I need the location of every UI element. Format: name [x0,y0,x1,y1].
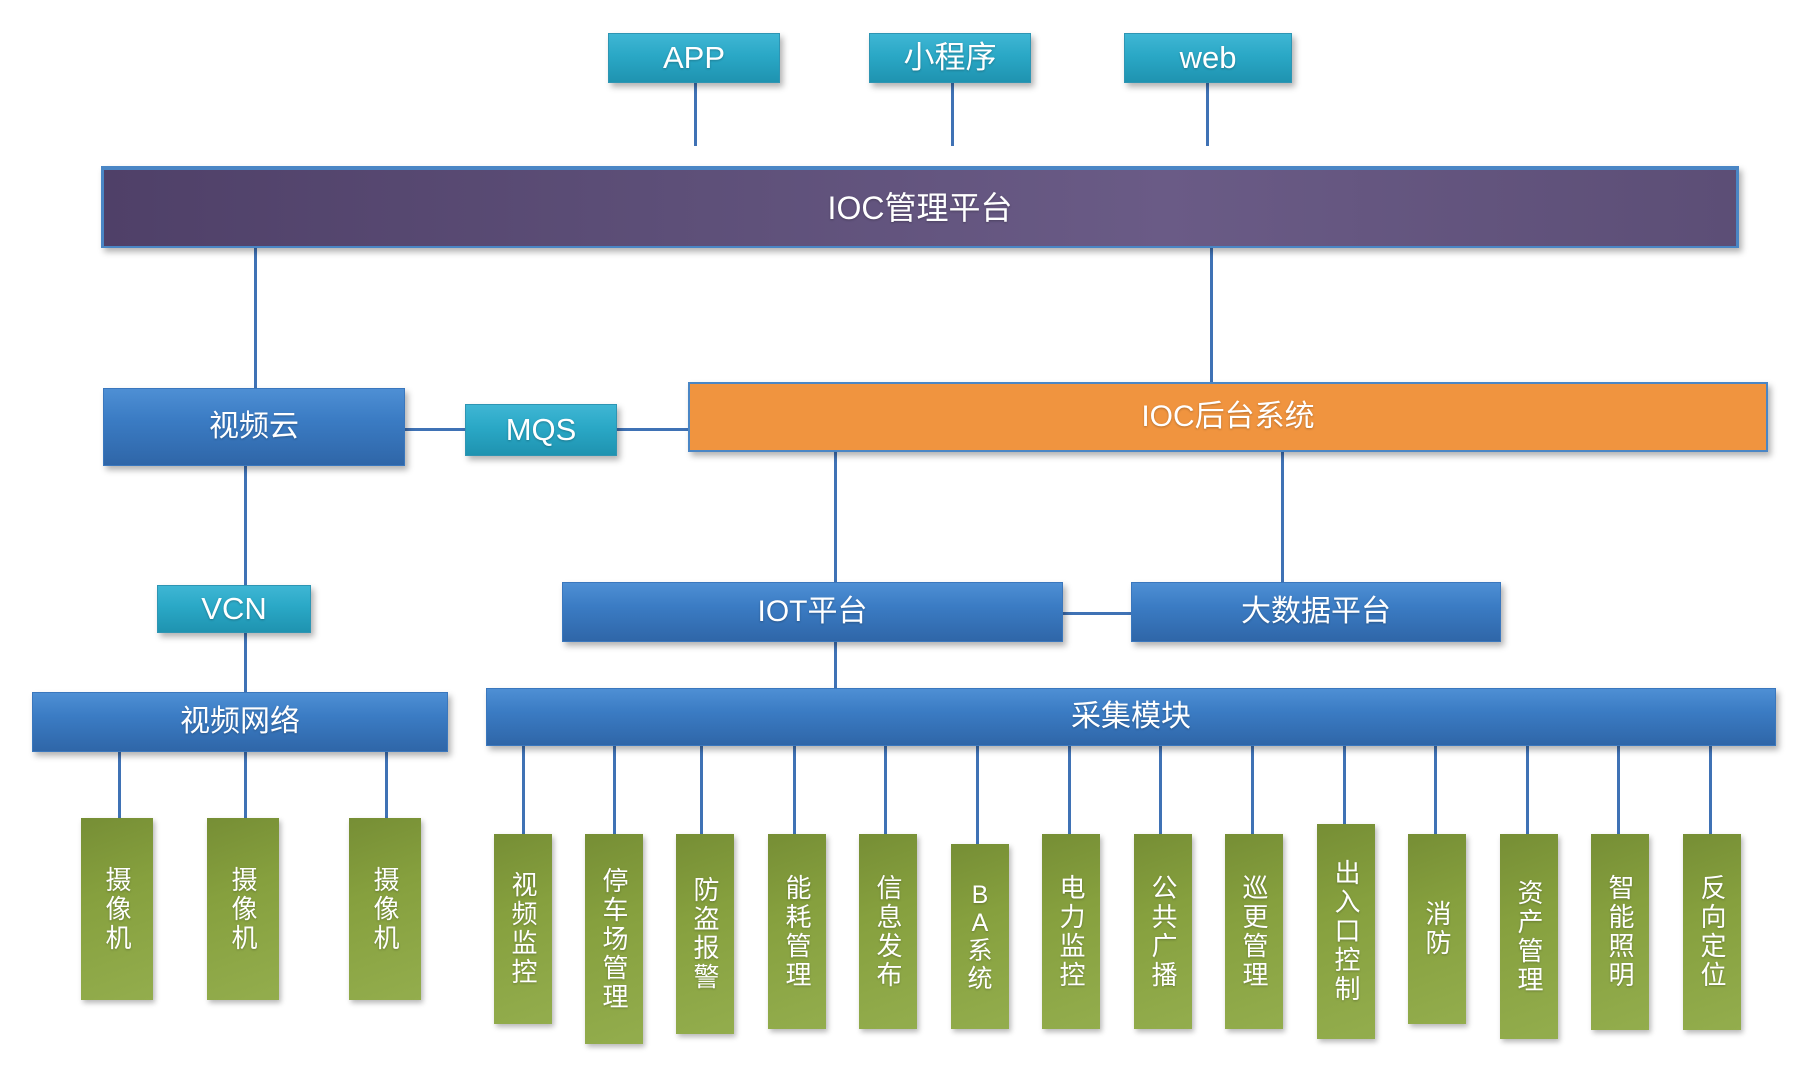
connector-video-cloud-to-mqs [404,428,466,431]
connector-ioc-backend-to-bigdata [1281,452,1284,582]
mqs-label: MQS [506,413,577,446]
connector-collection-to-sub-11 [1434,738,1437,836]
connector-collection-to-sub-10 [1343,738,1346,826]
architecture-diagram-canvas: APP 小程序 web IOC管理平台 视频云 MQS IOC后台系统 VCN … [0,0,1805,1084]
connector-video-network-to-camera-1 [118,752,121,820]
connector-collection-to-sub-5 [884,738,887,836]
connector-collection-to-sub-9 [1251,738,1254,836]
connector-collection-to-sub-13 [1617,738,1620,836]
ioc-backend-label: IOC后台系统 [1141,401,1314,433]
connector-miniprogram-to-platform [951,78,954,146]
connector-vcn-to-video-network [244,626,247,700]
collection-module-label: 采集模块 [1071,701,1191,733]
subsystem-box-4-label: 能耗管理 [784,874,810,990]
subsystem-box-5-label: 信息发布 [875,874,901,990]
subsystem-box-10-label: 出入口控制 [1333,859,1359,1004]
subsystem-box-11[interactable]: 消防 [1408,834,1466,1024]
client-box-app-label: APP [663,41,725,74]
ioc-management-platform-bar[interactable]: IOC管理平台 [101,166,1739,248]
subsystem-box-12[interactable]: 资产管理 [1500,834,1558,1039]
client-box-web[interactable]: web [1124,33,1292,83]
connector-collection-to-sub-12 [1526,738,1529,836]
subsystem-box-13-label: 智能照明 [1607,874,1633,990]
connector-iot-to-collection [834,642,837,692]
client-box-web-label: web [1180,41,1237,74]
connector-collection-to-sub-3 [700,738,703,836]
subsystem-box-14-label: 反向定位 [1699,874,1725,990]
subsystem-box-7-label: 电力监控 [1058,874,1084,990]
subsystem-box-3-label: 防盗报警 [692,876,718,992]
connector-collection-to-sub-8 [1159,738,1162,836]
client-box-miniprogram[interactable]: 小程序 [869,33,1031,83]
connector-web-to-platform [1206,78,1209,146]
video-network-label: 视频网络 [180,706,300,738]
ioc-management-platform-label: IOC管理平台 [828,191,1013,226]
connector-platform-to-video-cloud [254,248,257,388]
mqs-box[interactable]: MQS [465,404,617,456]
camera-box-2-label: 摄像机 [230,866,256,953]
collection-module-box[interactable]: 采集模块 [486,688,1776,746]
subsystem-box-14[interactable]: 反向定位 [1683,834,1741,1030]
subsystem-box-7[interactable]: 电力监控 [1042,834,1100,1029]
subsystem-box-3[interactable]: 防盗报警 [676,834,734,1034]
subsystem-box-8-label: 公共广播 [1150,874,1176,990]
subsystem-box-13[interactable]: 智能照明 [1591,834,1649,1030]
connector-collection-to-sub-1 [522,738,525,836]
connector-collection-to-sub-2 [613,738,616,836]
connector-video-network-to-camera-3 [385,752,388,820]
connector-collection-to-sub-4 [793,738,796,836]
connector-collection-to-sub-6 [976,738,979,846]
vcn-box[interactable]: VCN [157,585,311,633]
subsystem-box-5[interactable]: 信息发布 [859,834,917,1029]
subsystem-box-6-label: B A 系 统 [967,881,992,993]
bigdata-platform-label: 大数据平台 [1241,596,1391,628]
subsystem-box-1-label: 视频监控 [510,871,536,987]
subsystem-box-8[interactable]: 公共广播 [1134,834,1192,1029]
subsystem-box-6[interactable]: B A 系 统 [951,844,1009,1029]
camera-box-3[interactable]: 摄像机 [349,818,421,1000]
client-box-app[interactable]: APP [608,33,780,83]
subsystem-box-9-label: 巡更管理 [1241,874,1267,990]
subsystem-box-12-label: 资产管理 [1516,879,1542,995]
subsystem-box-11-label: 消防 [1424,900,1450,958]
camera-box-2[interactable]: 摄像机 [207,818,279,1000]
iot-platform-box[interactable]: IOT平台 [562,582,1063,642]
vcn-label: VCN [201,592,266,625]
connector-video-cloud-to-vcn [244,466,247,586]
camera-box-1[interactable]: 摄像机 [81,818,153,1000]
camera-box-1-label: 摄像机 [104,866,130,953]
connector-collection-to-sub-14 [1709,738,1712,836]
camera-box-3-label: 摄像机 [372,866,398,953]
video-cloud-label: 视频云 [209,411,299,443]
connector-mqs-to-ioc-backend [617,428,689,431]
subsystem-box-2-label: 停车场管理 [601,867,627,1012]
subsystem-box-2[interactable]: 停车场管理 [585,834,643,1044]
connector-platform-to-ioc-backend [1210,248,1213,382]
connector-video-network-to-camera-2 [244,752,247,820]
bigdata-platform-box[interactable]: 大数据平台 [1131,582,1501,642]
connector-collection-to-sub-7 [1068,738,1071,836]
subsystem-box-4[interactable]: 能耗管理 [768,834,826,1029]
connector-app-to-platform [694,78,697,146]
connector-ioc-backend-to-iot [834,452,837,582]
connector-iot-to-bigdata [1063,612,1131,615]
video-network-box[interactable]: 视频网络 [32,692,448,752]
client-box-miniprogram-label: 小程序 [904,41,997,74]
ioc-backend-box[interactable]: IOC后台系统 [688,382,1768,452]
subsystem-box-9[interactable]: 巡更管理 [1225,834,1283,1029]
iot-platform-label: IOT平台 [758,596,868,628]
video-cloud-box[interactable]: 视频云 [103,388,405,466]
subsystem-box-10[interactable]: 出入口控制 [1317,824,1375,1039]
subsystem-box-1[interactable]: 视频监控 [494,834,552,1024]
